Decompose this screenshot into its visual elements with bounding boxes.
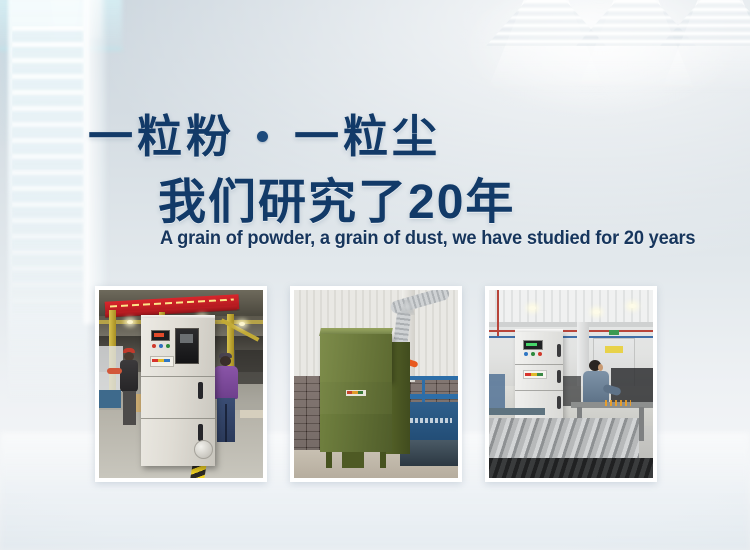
photo-image-3 — [489, 290, 653, 478]
workshop-ceiling — [489, 290, 653, 324]
green-collector-middle — [320, 382, 392, 414]
control-display — [151, 330, 170, 341]
white-cabinet-label — [523, 370, 547, 379]
exit-sign-icon — [609, 330, 619, 335]
green-collector-upper — [320, 334, 392, 382]
background-ceiling-pane — [0, 0, 122, 50]
worker-purple-legs — [217, 398, 235, 442]
green-collector-leg-1 — [326, 452, 332, 468]
worker-dark-arm — [107, 368, 122, 374]
photo-card-gray-collector[interactable] — [95, 286, 267, 482]
cabinet-handle-1 — [198, 382, 203, 399]
worker-dark-legs — [123, 391, 136, 425]
background-machine-right — [235, 350, 263, 384]
blue-equipment-box — [489, 374, 505, 408]
worker-purple-shirt — [214, 366, 238, 399]
background-column — [8, 0, 88, 406]
yellow-notice-sign — [605, 346, 623, 353]
pallet — [240, 410, 263, 418]
green-collector-leg-2 — [380, 452, 386, 468]
welding-sparks — [605, 400, 631, 406]
brand-label — [150, 356, 174, 367]
scissor-lift-rail — [404, 394, 458, 399]
control-panel — [175, 328, 199, 364]
headline-line-2: 我们研究了20年 — [158, 162, 515, 232]
cabinet-porthole — [194, 440, 213, 459]
white-cabinet-handle-3 — [557, 396, 561, 409]
worker-purple-head — [220, 356, 231, 366]
white-cabinet-seam-1 — [515, 364, 563, 365]
blue-bin — [99, 390, 121, 408]
background-post-left — [52, 0, 78, 50]
green-collector-hopper — [342, 452, 364, 468]
worker-dark-body — [120, 360, 138, 392]
green-collector-label — [346, 390, 366, 396]
control-button-green — [166, 344, 170, 348]
collector-button-red — [538, 352, 542, 356]
green-collector-lower — [320, 414, 392, 452]
photo-card-green-collector[interactable] — [290, 286, 462, 482]
headline-line-1: 一粒粉一粒尘 — [88, 100, 441, 165]
collector-display — [523, 340, 543, 350]
white-cabinet-handle-1 — [557, 344, 561, 357]
vertical-pipe — [497, 290, 499, 336]
metal-rack — [489, 408, 545, 415]
promo-banner: 一粒粉一粒尘 我们研究了20年 A grain of powder, a gra… — [0, 0, 750, 550]
headline-line-1-right: 一粒尘 — [294, 111, 441, 162]
workshop-lamp-2 — [593, 310, 600, 314]
subtitle-text: A grain of powder, a grain of dust, we h… — [160, 228, 695, 250]
cabinet-seam-2 — [141, 418, 215, 419]
control-button-blue — [159, 344, 163, 348]
headline-line-1-left: 一粒粉 — [88, 111, 235, 162]
workbench-leg-2 — [639, 407, 644, 441]
photo-card-white-collector[interactable] — [485, 286, 657, 482]
collector-button-green — [531, 352, 535, 356]
red-pipe — [489, 330, 653, 332]
white-cabinet-seam-2 — [515, 390, 563, 391]
metal-profiles-dark — [489, 458, 653, 478]
ceiling-lamp-1 — [127, 320, 133, 324]
photo-gallery — [95, 286, 657, 482]
background-post-left-secondary — [86, 0, 102, 38]
ceiling-lamp-3 — [239, 322, 245, 326]
white-cabinet-handle-2 — [557, 370, 561, 383]
cabinet-handle-2 — [198, 424, 203, 441]
ceiling-beam — [489, 322, 653, 327]
workshop-lamp-3 — [629, 304, 636, 308]
photo-image-1 — [99, 290, 263, 478]
collector-button-blue — [524, 352, 528, 356]
background-column-stripes — [12, 26, 84, 326]
scissor-lift-label — [410, 418, 452, 423]
control-button-red — [152, 344, 156, 348]
cabinet-seam-1 — [141, 376, 215, 377]
background-glass-panel — [0, 2, 56, 142]
dot-separator-icon — [257, 131, 268, 142]
workshop-worker-face — [598, 364, 603, 371]
scissor-lift-rail-upper — [404, 376, 458, 380]
photo-image-2 — [294, 290, 458, 478]
workshop-lamp-1 — [529, 306, 536, 310]
